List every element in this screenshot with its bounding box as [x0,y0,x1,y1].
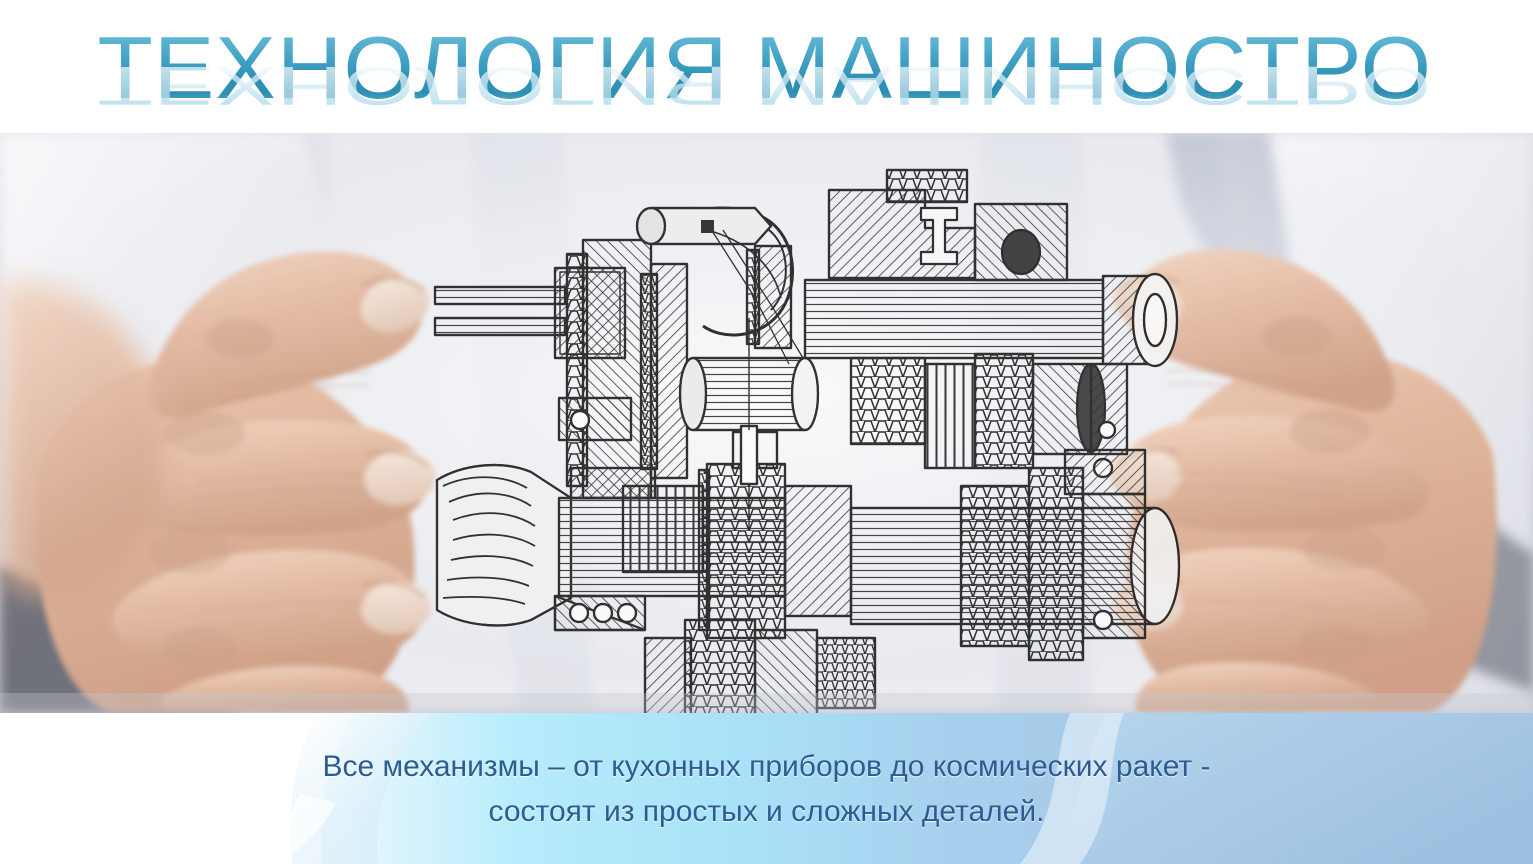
caption-band: Все механизмы – от кухонных приборов до … [0,713,1533,864]
caption-line-2: состоят из простых и сложных деталей. [489,790,1045,833]
hands-photo [0,133,1533,713]
photo-bottom-shade [0,693,1533,713]
caption-line-1: Все механизмы – от кухонных приборов до … [323,745,1211,788]
caption-text-block: Все механизмы – от кухонных приборов до … [0,713,1533,864]
title-band: ТЕХНОЛОГИЯ МАШИНОСТРОЕНИЯ ТЕХНОЛОГИЯ МАШ… [0,0,1533,133]
page-title-reflection: ТЕХНОЛОГИЯ МАШИНОСТРОЕНИЯ [97,58,1436,113]
presentation-slide: ТЕХНОЛОГИЯ МАШИНОСТРОЕНИЯ ТЕХНОЛОГИЯ МАШ… [0,0,1533,864]
title-stack: ТЕХНОЛОГИЯ МАШИНОСТРОЕНИЯ ТЕХНОЛОГИЯ МАШ… [117,0,1417,133]
photo-band [0,133,1533,713]
title-wrapper: ТЕХНОЛОГИЯ МАШИНОСТРОЕНИЯ ТЕХНОЛОГИЯ МАШ… [0,0,1533,133]
